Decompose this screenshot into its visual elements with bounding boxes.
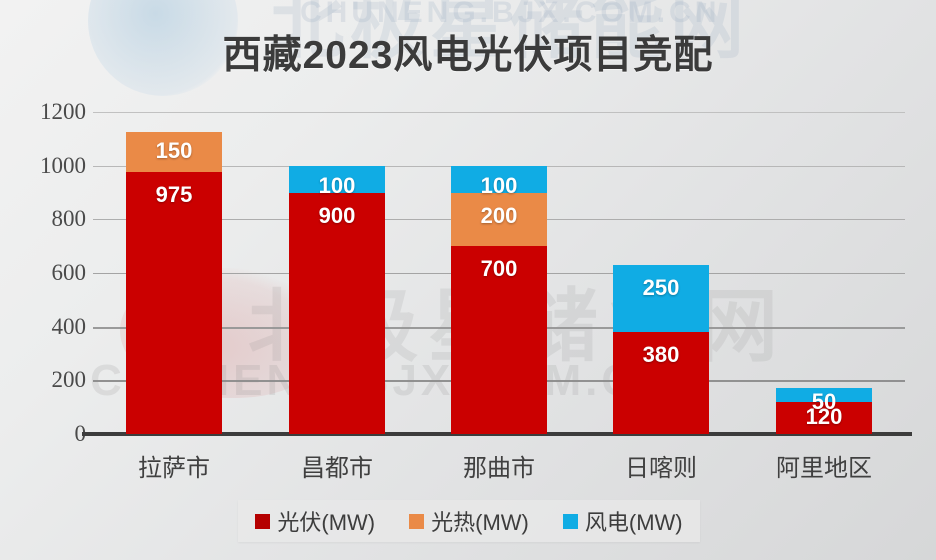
legend-label: 风电(MW) [585, 505, 683, 537]
bar-value-label: 700 [481, 258, 518, 280]
bar-value-label: 900 [319, 205, 356, 227]
legend-item[interactable]: 光热(MW) [409, 505, 529, 537]
bar-value-label: 100 [319, 175, 356, 197]
x-axis-tick-label: 拉萨市 [104, 448, 244, 483]
bar-value-label: 380 [643, 344, 680, 366]
bar-segment[interactable]: 900 [289, 193, 385, 435]
chart-canvas: 北极星储能网 CHUNENG.BJX.COM.CN ✦ ✦ ✦ 北极星储能网 C… [0, 0, 936, 560]
legend-label: 光热(MW) [431, 505, 529, 537]
bar-series-group: 975150拉萨市900100昌都市700200100那曲市380250日喀则1… [0, 0, 936, 560]
bar-stack[interactable]: 700200100 [451, 112, 547, 434]
chart-legend: 光伏(MW)光热(MW)风电(MW) [238, 500, 700, 542]
legend-item[interactable]: 光伏(MW) [255, 505, 375, 537]
bar-value-label: 150 [156, 140, 193, 162]
bar-stack[interactable]: 975150 [126, 112, 222, 434]
bar-segment[interactable]: 975 [126, 172, 222, 434]
legend-item[interactable]: 风电(MW) [563, 505, 683, 537]
bar-stack[interactable]: 900100 [289, 112, 385, 434]
legend-label: 光伏(MW) [277, 505, 375, 537]
bar-segment[interactable]: 700 [451, 246, 547, 434]
bar-value-label: 50 [812, 391, 836, 413]
bar-segment[interactable]: 100 [289, 166, 385, 193]
bar-value-label: 200 [481, 205, 518, 227]
x-axis-tick-label: 阿里地区 [754, 448, 894, 483]
bar-segment[interactable]: 250 [613, 265, 709, 332]
bar-segment[interactable]: 50 [776, 388, 872, 401]
legend-swatch-icon [409, 514, 424, 529]
bar-segment[interactable]: 380 [613, 332, 709, 434]
x-axis-tick-label: 那曲市 [429, 448, 569, 483]
bar-value-label: 100 [481, 175, 518, 197]
bar-value-label: 250 [643, 277, 680, 299]
bar-stack[interactable]: 12050 [776, 112, 872, 434]
bar-value-label: 975 [156, 184, 193, 206]
bar-stack[interactable]: 380250 [613, 112, 709, 434]
x-axis-tick-label: 日喀则 [591, 448, 731, 483]
bar-segment[interactable]: 100 [451, 166, 547, 193]
bar-segment[interactable]: 150 [126, 132, 222, 172]
x-axis-tick-label: 昌都市 [267, 448, 407, 483]
legend-swatch-icon [255, 514, 270, 529]
bar-segment[interactable]: 200 [451, 193, 547, 247]
legend-swatch-icon [563, 514, 578, 529]
